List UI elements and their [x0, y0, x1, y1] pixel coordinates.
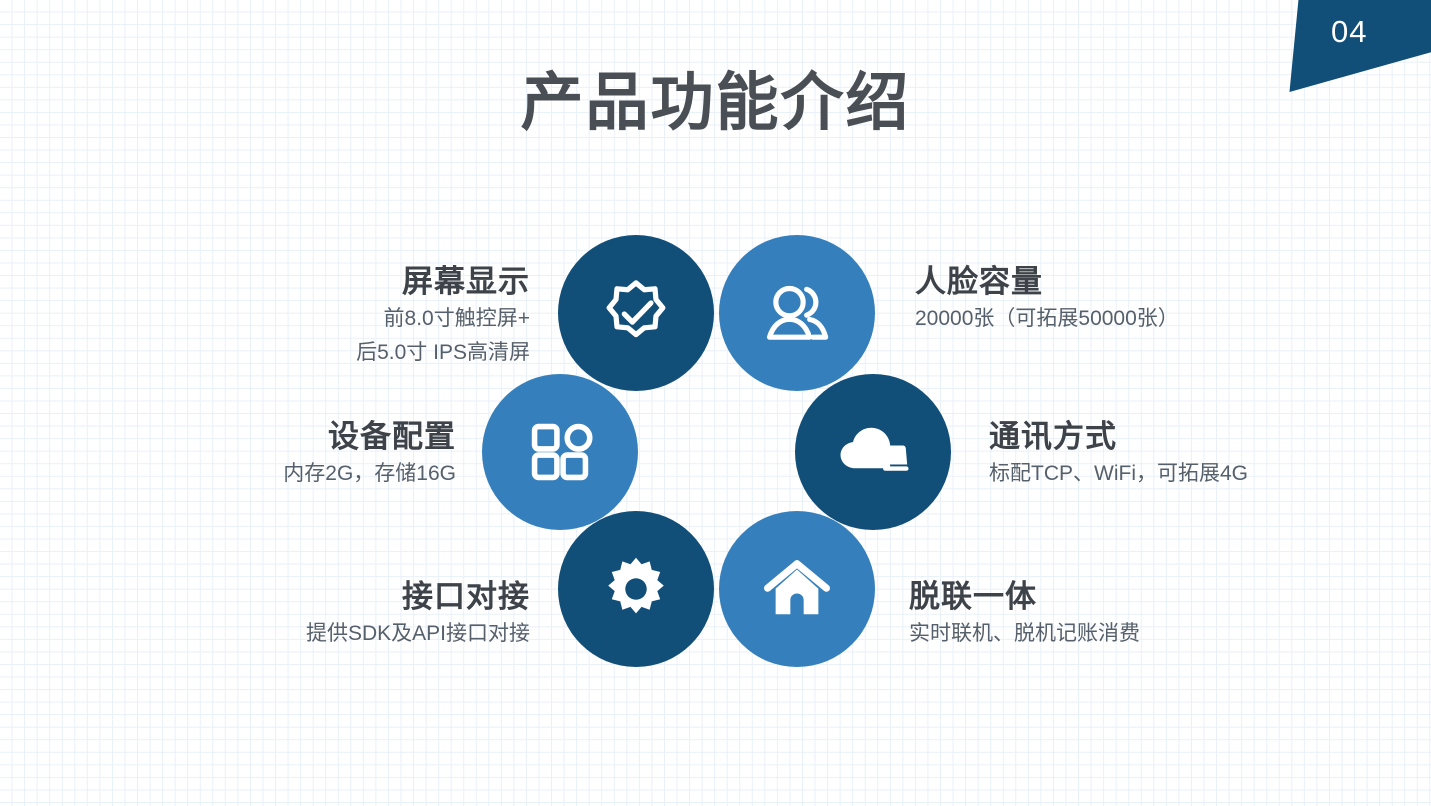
feature-desc-comm-line1: 标配TCP、WiFi，可拓展4G — [989, 457, 1248, 491]
feature-desc-device-line1: 内存2G，存储16G — [283, 457, 456, 491]
badge-check-icon — [597, 274, 675, 352]
feature-desc-api-line1: 提供SDK及API接口对接 — [306, 617, 530, 651]
feature-circle-api[interactable] — [558, 511, 714, 667]
feature-title-comm: 通讯方式 — [989, 418, 1248, 457]
grid-dashboard-icon — [523, 415, 597, 489]
feature-text-device: 设备配置 内存2G，存储16G — [283, 418, 456, 491]
feature-desc-offline-line1: 实时联机、脱机记账消费 — [909, 617, 1140, 651]
users-icon — [757, 273, 837, 353]
feature-circle-face[interactable] — [719, 235, 875, 391]
feature-text-face: 人脸容量 20000张（可拓展50000张） — [915, 263, 1179, 336]
feature-title-face: 人脸容量 — [915, 263, 1179, 302]
feature-circle-device[interactable] — [482, 374, 638, 530]
feature-text-offline: 脱联一体 实时联机、脱机记账消费 — [909, 578, 1140, 651]
feature-text-screen: 屏幕显示 前8.0寸触控屏+ 后5.0寸 IPS高清屏 — [356, 263, 530, 370]
feature-desc-screen-line1: 前8.0寸触控屏+ — [356, 302, 530, 336]
feature-text-comm: 通讯方式 标配TCP、WiFi，可拓展4G — [989, 418, 1248, 491]
feature-title-offline: 脱联一体 — [909, 578, 1140, 617]
home-icon — [756, 548, 838, 630]
feature-desc-screen-line2: 后5.0寸 IPS高清屏 — [356, 336, 530, 370]
feature-text-api: 接口对接 提供SDK及API接口对接 — [306, 578, 530, 651]
cloud-device-icon — [832, 411, 914, 493]
feature-title-api: 接口对接 — [306, 578, 530, 617]
slide-canvas: 04 产品功能介绍 — [0, 0, 1431, 806]
feature-desc-face-line1: 20000张（可拓展50000张） — [915, 302, 1179, 336]
feature-circle-screen[interactable] — [558, 235, 714, 391]
gear-icon — [597, 550, 675, 628]
feature-circle-comm[interactable] — [795, 374, 951, 530]
feature-circle-offline[interactable] — [719, 511, 875, 667]
feature-title-screen: 屏幕显示 — [356, 263, 530, 302]
feature-circle-cluster — [0, 0, 1431, 806]
feature-title-device: 设备配置 — [283, 418, 456, 457]
